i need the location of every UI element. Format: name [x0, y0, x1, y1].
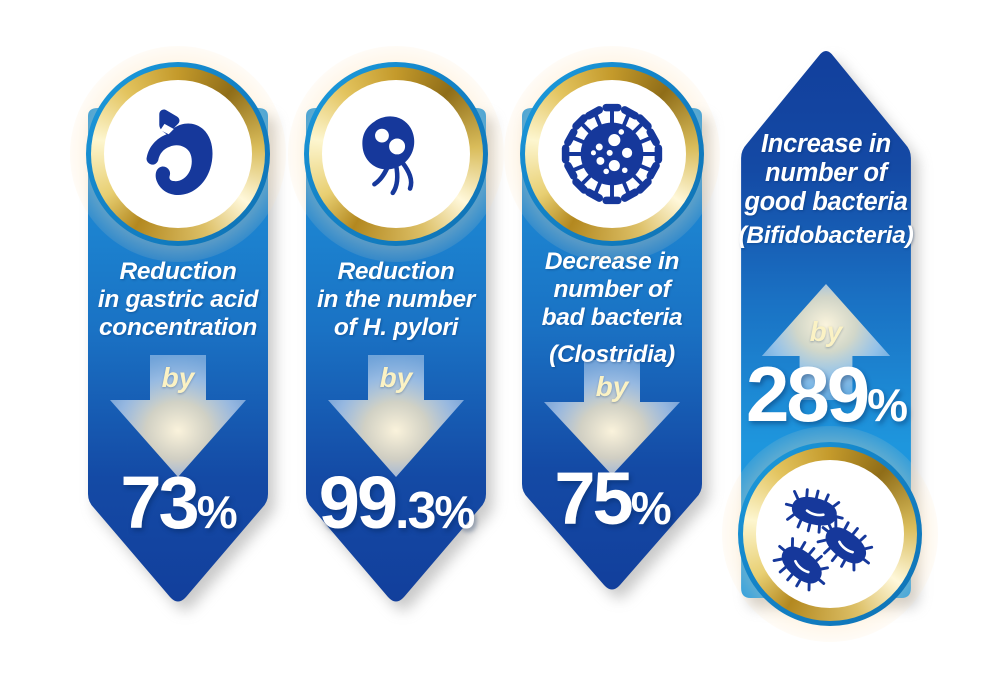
medallion-good-bacteria: [738, 442, 922, 626]
arrow-good-bacteria: Increase in number of good bacteria (Bif…: [726, 0, 926, 690]
medallion-face: [104, 80, 252, 228]
caption-sub-good-bacteria: (Bifidobacteria): [726, 222, 926, 250]
value-unit: %: [631, 482, 670, 534]
by-label-bad-bacteria: by: [512, 371, 712, 403]
stomach-icon: [126, 102, 230, 206]
medallion-h-pylori: [304, 62, 488, 246]
value-number: 73: [120, 461, 196, 544]
value-bad-bacteria: 75%: [512, 462, 712, 536]
medallion-stomach: [86, 62, 270, 246]
virus-icon: [554, 96, 670, 212]
by-label-good-bacteria: by: [726, 316, 926, 348]
arrow-gastric-acid: Reduction in gastric acid concentration …: [78, 0, 278, 690]
value-good-bacteria: 289%: [726, 355, 926, 433]
medallion-face: [756, 460, 904, 608]
arrow-h-pylori: Reduction in the number of H. pylori by …: [296, 0, 496, 690]
value-gastric-acid: 73%: [78, 466, 278, 540]
by-label-h-pylori: by: [296, 362, 496, 394]
arrow-bad-bacteria: Decrease in number of bad bacteria (Clos…: [512, 0, 712, 690]
value-number: 75: [554, 457, 630, 540]
medallion-face: [538, 80, 686, 228]
by-label-gastric-acid: by: [78, 362, 278, 394]
good-bacteria-icon: [770, 474, 890, 594]
caption-gastric-acid: Reduction in gastric acid concentration: [78, 258, 278, 342]
h-pylori-bacterium-icon: [342, 100, 450, 208]
medallion-virus: [520, 62, 704, 246]
value-unit: %: [197, 486, 236, 538]
value-unit: %: [434, 486, 473, 538]
value-number: 99: [319, 461, 395, 544]
caption-sub-bad-bacteria: (Clostridia): [512, 341, 712, 369]
caption-good-bacteria: Increase in number of good bacteria: [726, 130, 926, 217]
value-decimal: .3: [395, 482, 434, 540]
infographic-canvas: Reduction in gastric acid concentration …: [0, 0, 1000, 690]
value-unit: %: [867, 379, 906, 431]
value-number: 289: [746, 350, 867, 438]
caption-h-pylori: Reduction in the number of H. pylori: [296, 258, 496, 342]
medallion-face: [322, 80, 470, 228]
value-h-pylori: 99.3%: [296, 466, 496, 540]
